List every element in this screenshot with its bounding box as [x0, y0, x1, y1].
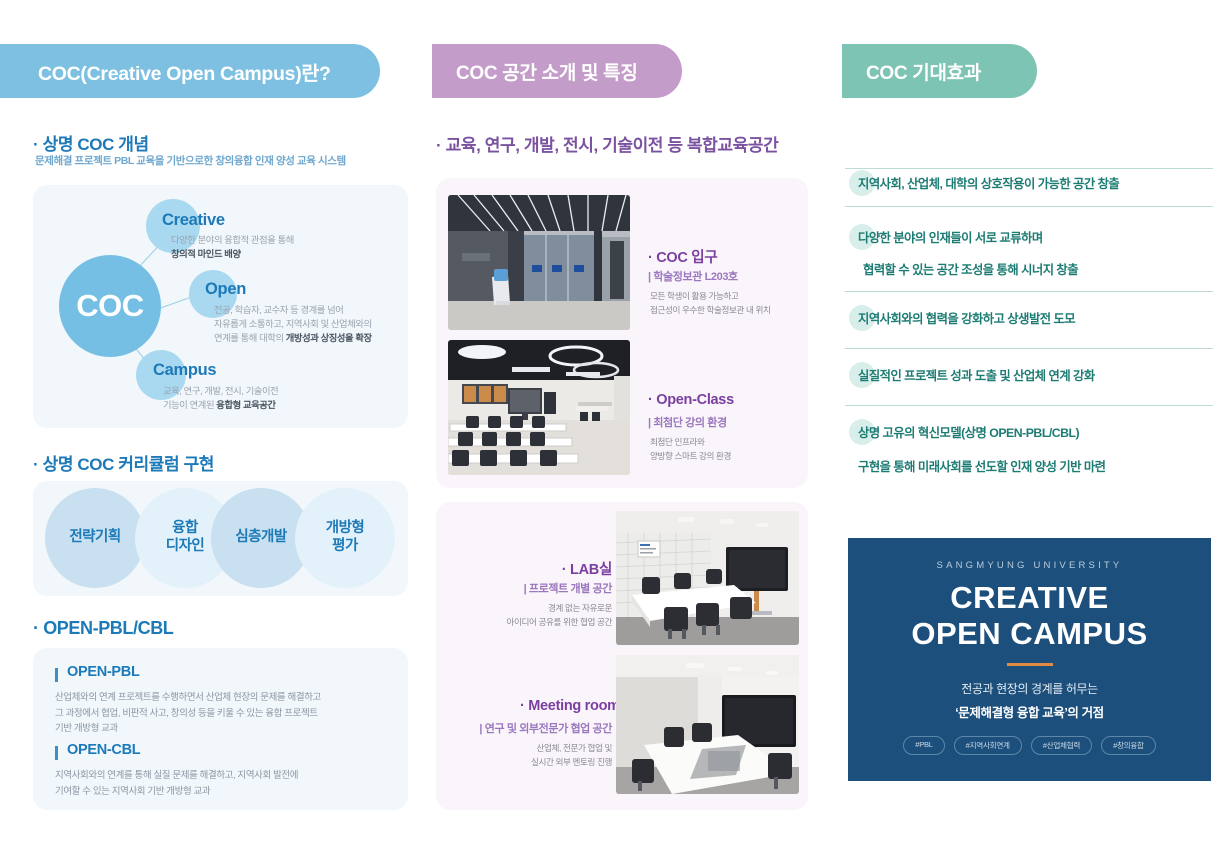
pbl-body: 산업체와의 연계 프로젝트를 수행하면서 산업체 현장의 문제를 해결하고 그 … — [55, 690, 321, 737]
space-title-3: · LAB실 — [546, 558, 612, 579]
space-sub-2: | 최첨단 강의 환경 — [648, 414, 727, 430]
section-title-space: · 교육, 연구, 개발, 전시, 기술이전 등 복합교육공간 — [436, 131, 778, 156]
section-subtitle-concept: 문제해결 프로젝트 PBL 교육을 기반으로한 창의융합 인재 양성 교육 시스… — [35, 153, 346, 168]
effect-text-2a: 다양한 분야의 인재들이 서로 교류하며 — [858, 228, 1043, 246]
brand-title-line2: OPEN CAMPUS — [848, 616, 1211, 653]
space-sub-3: | 프로젝트 개별 공간 — [466, 580, 612, 596]
node-desc-open: 전공, 학습자, 교수자 등 경계를 넘어 자유롭게 소통하고, 지역사회 및 … — [214, 304, 372, 346]
brand-tag: #지역사회연계 — [954, 736, 1022, 755]
space-desc-2: 최첨단 인프라와양방향 스마트 강의 환경 — [650, 436, 731, 464]
curriculum-panel: 전략기획 융합디자인 심층개발 개방형평가 — [33, 481, 408, 596]
effect-text-4: 실질적인 프로젝트 성과 도출 및 산업체 연계 강화 — [858, 366, 1095, 384]
node-desc-creative: 다양한 분야의 융합적 관점을 통해 창의적 마인드 배양 — [171, 234, 294, 262]
space-sub-4: | 연구 및 외부전문가 협업 공간 — [440, 720, 612, 736]
effect-divider — [845, 206, 1213, 207]
concept-diagram-panel: COC Creative 다양한 분야의 융합적 관점을 통해 창의적 마인드 … — [33, 185, 408, 428]
coc-entrance-photo — [448, 195, 630, 330]
effect-divider — [845, 291, 1213, 292]
lab-room-photo — [616, 511, 799, 645]
brand-tag: #창의융합 — [1101, 736, 1156, 755]
section-title-pbl-cbl: · OPEN-PBL/CBL — [33, 618, 173, 639]
infographic-page: COC(Creative Open Campus)란? · 상명 COC 개념 … — [0, 0, 1231, 858]
header-pill-space-label: COC 공간 소개 및 특징 — [432, 58, 638, 85]
node-label-open: Open — [205, 280, 246, 299]
space-desc-1: 모든 학생이 활용 가능하고접근성이 우수한 학술정보관 내 위치 — [650, 290, 771, 318]
space-sub-1: | 학술정보관 L203호 — [648, 268, 738, 284]
brand-title-line1: CREATIVE — [848, 580, 1211, 617]
effect-text-2b: 협력할 수 있는 공간 조성을 통해 시너지 창출 — [863, 260, 1078, 278]
brand-card: SANGMYUNG UNIVERSITY CREATIVE OPEN CAMPU… — [848, 538, 1211, 781]
cbl-body: 지역사회와의 연계를 통해 실질 문제를 해결하고, 지역사회 발전에 기여할 … — [55, 768, 298, 799]
meeting-room-photo-art — [616, 655, 799, 794]
header-pill-definition: COC(Creative Open Campus)란? — [0, 44, 380, 98]
brand-university-name: SANGMYUNG UNIVERSITY — [848, 560, 1211, 571]
brand-divider-rule — [1007, 663, 1053, 666]
effect-text-5b: 구현을 통해 미래사회를 선도할 인재 양성 기반 마련 — [858, 457, 1106, 475]
open-class-photo-art — [448, 340, 630, 475]
node-label-creative: Creative — [162, 211, 225, 230]
meeting-room-photo — [616, 655, 799, 794]
effect-divider — [845, 348, 1213, 349]
brand-tag-list: #PBL #지역사회연계 #산업체협력 #창의융합 — [848, 736, 1211, 755]
space-title-2: · Open-Class — [648, 392, 734, 408]
space-desc-4: 산업체, 전문가 협업 및실시간 외부 멘토링 진행 — [442, 742, 612, 770]
brand-tag: #PBL — [903, 736, 944, 755]
venn-circle-coc-label: COC — [76, 288, 143, 324]
pbl-heading: OPEN-PBL — [57, 664, 140, 680]
header-pill-effects-label: COC 기대효과 — [842, 58, 981, 85]
space-title-4: · Meeting room — [520, 698, 612, 714]
effect-text-1: 지역사회, 산업체, 대학의 상호작용이 가능한 공간 창출 — [858, 174, 1119, 192]
curriculum-circle-4: 개방형평가 — [295, 488, 395, 588]
pbl-cbl-panel: OPEN-PBL 산업체와의 연계 프로젝트를 수행하면서 산업체 현장의 문제… — [33, 648, 408, 810]
header-pill-definition-label: COC(Creative Open Campus)란? — [0, 57, 331, 86]
header-pill-space: COC 공간 소개 및 특징 — [432, 44, 682, 98]
brand-subtitle-line1: 전공과 현장의 경계를 허무는 — [848, 680, 1211, 697]
venn-circle-coc: COC — [59, 255, 161, 357]
space-title-1: · COC 입구 — [648, 246, 717, 267]
section-title-curriculum: · 상명 COC 커리큘럼 구현 — [33, 450, 214, 475]
effect-text-5a: 상명 고유의 혁신모델(상명 OPEN-PBL/CBL) — [858, 423, 1079, 441]
brand-subtitle-line2: ‘문제해결형 융합 교육’의 거점 — [848, 702, 1211, 721]
column-coc-definition: COC(Creative Open Campus)란? · 상명 COC 개념 … — [0, 0, 415, 858]
curriculum-circle-1: 전략기획 — [45, 488, 145, 588]
brand-tag: #산업체협력 — [1031, 736, 1092, 755]
space-desc-3: 경계 없는 자유로운아이디어 공유를 위한 협업 공간 — [446, 602, 612, 630]
effect-text-3: 지역사회와의 협력을 강화하고 상생발전 도모 — [858, 309, 1075, 327]
coc-entrance-photo-art — [448, 195, 630, 330]
effect-divider — [845, 405, 1213, 406]
lab-room-photo-art — [616, 511, 799, 645]
cbl-heading: OPEN-CBL — [57, 742, 140, 758]
section-title-concept: · 상명 COC 개념 — [33, 130, 149, 155]
space-card-top: · COC 입구 | 학술정보관 L203호 모든 학생이 활용 가능하고접근성… — [436, 178, 808, 488]
column-space-intro: COC 공간 소개 및 특징 · 교육, 연구, 개발, 전시, 기술이전 등 … — [415, 0, 825, 858]
node-label-campus: Campus — [153, 361, 216, 380]
open-class-photo — [448, 340, 630, 475]
node-desc-campus: 교육, 연구, 개발, 전시, 기술이전 기능이 연계된 융합형 교육공간 — [163, 385, 278, 413]
space-card-bottom: · LAB실 | 프로젝트 개별 공간 경계 없는 자유로운아이디어 공유를 위… — [436, 502, 808, 810]
effect-divider — [845, 168, 1213, 169]
header-pill-effects: COC 기대효과 — [842, 44, 1037, 98]
